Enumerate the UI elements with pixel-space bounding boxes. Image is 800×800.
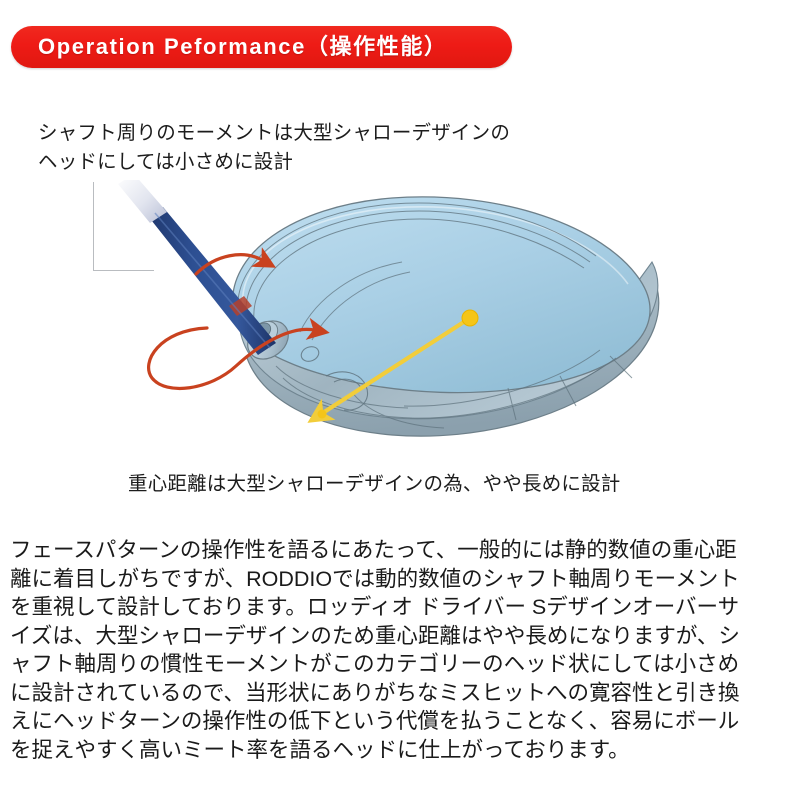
body-paragraph: フェースパターンの操作性を語るにあたって、一般的には静的数値の重心距 離に着目し… <box>10 536 794 764</box>
annotation-shaft-moment: シャフト周りのモーメントは大型シャローデザインの ヘッドにしては小さめに設計 <box>38 119 638 177</box>
body-line: を重視して設計しております。ロッディオ ドライバー Sデザインオーバーサ <box>10 593 794 622</box>
driver-head-illustration <box>0 180 800 460</box>
body-line: フェースパターンの操作性を語るにあたって、一般的には静的数値の重心距 <box>10 536 794 565</box>
body-line: イズは、大型シャローデザインのため重心距離はやや長めになりますが、シ <box>10 622 794 651</box>
annotation-shaft-moment-line-2: ヘッドにしては小さめに設計 <box>38 148 638 177</box>
body-line: ャフト軸周りの慣性モーメントがこのカテゴリーのヘッド状にしては小さめ <box>10 650 794 679</box>
caption-center-of-gravity: 重心距離は大型シャローデザインの為、やや長めに設計 <box>128 470 621 498</box>
annotation-shaft-moment-line-1: シャフト周りのモーメントは大型シャローデザインの <box>38 119 638 148</box>
body-line: えにヘッドターンの操作性の低下という代償を払うことなく、容易にボール <box>10 707 794 736</box>
cog-arrow-tip-dot <box>318 410 327 419</box>
page-title: Operation Peformance（操作性能） <box>38 36 448 58</box>
body-line: 離に着目しがちですが、RODDIOでは動的数値のシャフト軸周りモーメント <box>10 565 794 594</box>
club-head-crown <box>232 197 650 393</box>
body-line: を捉えやすく高いミート率を語るヘッドに仕上がっております。 <box>10 736 794 765</box>
cog-marker-dot <box>462 310 478 326</box>
header-banner: Operation Peformance（操作性能） <box>11 26 512 68</box>
body-line: に設計されているので、当形状にありがちなミスヒットへの寛容性と引き換 <box>10 679 794 708</box>
